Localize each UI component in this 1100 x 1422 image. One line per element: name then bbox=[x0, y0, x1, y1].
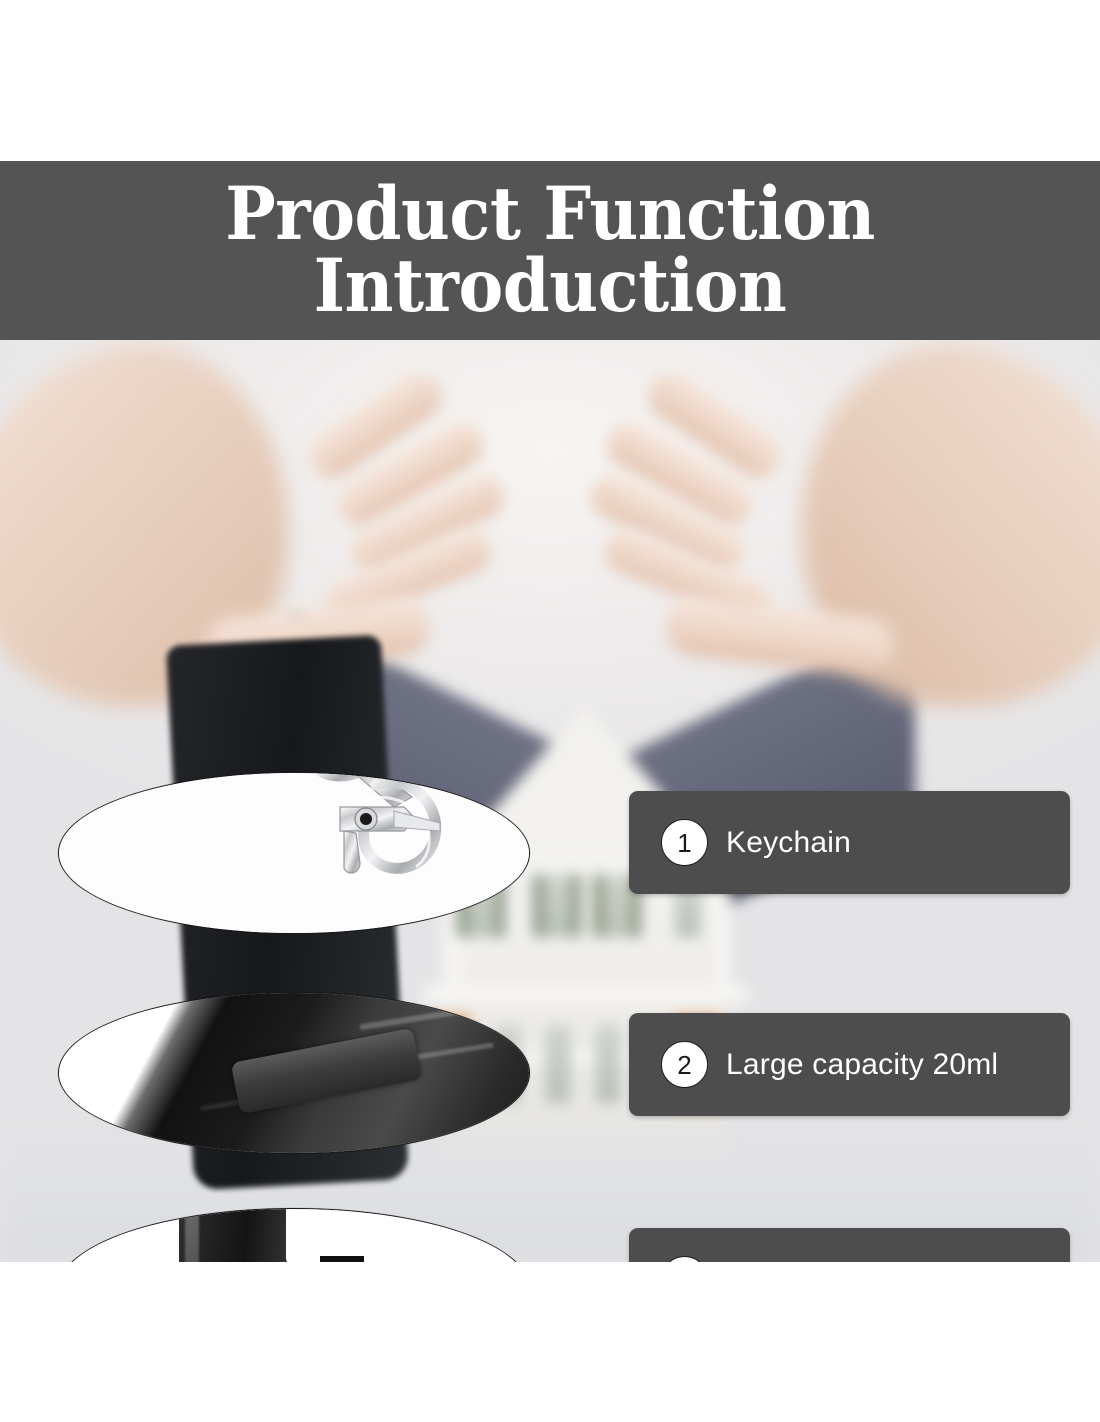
callout-label-text-1: Keychain bbox=[726, 826, 851, 860]
title-banner: Product Function Introduction bbox=[0, 161, 1100, 340]
keychain-clasp-icon bbox=[244, 772, 494, 934]
callout-image-2-bottle-body bbox=[58, 992, 530, 1154]
house-shutter bbox=[533, 875, 544, 937]
page-title: Product Function Introduction bbox=[207, 179, 893, 322]
nozzle-notch bbox=[286, 1208, 364, 1262]
house-window bbox=[603, 875, 629, 937]
callout-label-3[interactable]: 3 Press type nozzle bbox=[629, 1228, 1070, 1262]
bottle-tube bbox=[231, 1028, 423, 1114]
nozzle-inner-shelf bbox=[320, 1256, 364, 1262]
house-window bbox=[543, 875, 569, 937]
callout-label-text-2: Large capacity 20ml bbox=[726, 1048, 998, 1082]
callout-image-3-press-nozzle bbox=[58, 1208, 530, 1262]
callout-label-1[interactable]: 1 Keychain bbox=[629, 791, 1070, 894]
bottle-rib bbox=[359, 1006, 478, 1031]
callout-number-badge-1: 1 bbox=[661, 819, 708, 866]
house-shutter bbox=[593, 875, 604, 937]
callout-image-1-keychain bbox=[58, 772, 530, 934]
house-window bbox=[545, 1025, 571, 1103]
callout-number-badge-3: 3 bbox=[661, 1256, 708, 1262]
nozzle-highlight bbox=[185, 1208, 199, 1262]
press-nozzle-part bbox=[179, 1208, 364, 1262]
infographic-page: Product Function Introduction bbox=[0, 0, 1100, 1422]
callout-label-2[interactable]: 2 Large capacity 20ml bbox=[629, 1013, 1070, 1116]
product-photo-scene: 1 Keychain 2 Large capacity 20ml 3 Press… bbox=[0, 340, 1100, 1262]
house-shutter bbox=[570, 875, 581, 937]
callout-number-badge-2: 2 bbox=[661, 1041, 708, 1088]
house-window bbox=[595, 1025, 621, 1103]
